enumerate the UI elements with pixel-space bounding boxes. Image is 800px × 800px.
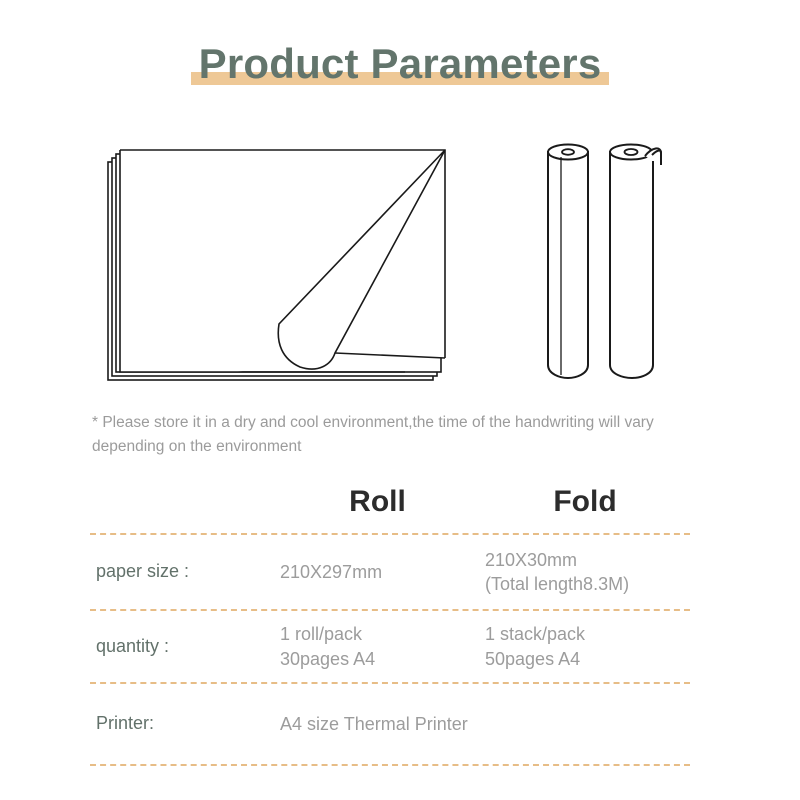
- table-row: paper size : 210X297mm 210X30mm (Total l…: [90, 535, 690, 609]
- cell-paper-size-fold: 210X30mm (Total length8.3M): [480, 548, 690, 597]
- column-header-roll: Roll: [275, 487, 480, 517]
- page-title: Product Parameters: [199, 40, 602, 87]
- column-header-fold: Fold: [480, 487, 690, 517]
- paper-rolls-icon: [548, 145, 661, 379]
- row-label-printer: Printer:: [90, 712, 275, 735]
- table-row: Printer: A4 size Thermal Printer: [90, 684, 690, 764]
- row-divider: [90, 764, 690, 766]
- cell-printer-value: A4 size Thermal Printer: [275, 712, 468, 736]
- spec-table: Roll Fold paper size : 210X297mm 210X30m…: [90, 470, 690, 766]
- cell-line: 50pages A4: [485, 647, 690, 671]
- cell-line: 1 roll/pack: [280, 622, 480, 646]
- page-title-block: Product Parameters: [0, 38, 800, 91]
- cell-paper-size-roll: 210X297mm: [275, 560, 480, 584]
- row-label-paper-size: paper size :: [90, 560, 275, 583]
- storage-note: * Please store it in a dry and cool envi…: [92, 411, 692, 459]
- row-label-quantity: quantity :: [90, 635, 275, 658]
- product-illustration: [0, 125, 800, 395]
- product-parameters-page: Product Parameters: [0, 0, 800, 800]
- table-row: quantity : 1 roll/pack 30pages A4 1 stac…: [90, 611, 690, 682]
- page-title-wrap: Product Parameters: [191, 38, 610, 91]
- cell-quantity-roll: 1 roll/pack 30pages A4: [275, 622, 480, 671]
- cell-line: 30pages A4: [280, 647, 480, 671]
- cell-quantity-fold: 1 stack/pack 50pages A4: [480, 622, 690, 671]
- cell-line: 1 stack/pack: [485, 622, 690, 646]
- cell-line: 210X30mm: [485, 548, 690, 572]
- table-header-row: Roll Fold: [90, 470, 690, 533]
- cell-line: (Total length8.3M): [485, 572, 690, 596]
- paper-stack-icon: [108, 150, 445, 380]
- cell-line: 210X297mm: [280, 560, 480, 584]
